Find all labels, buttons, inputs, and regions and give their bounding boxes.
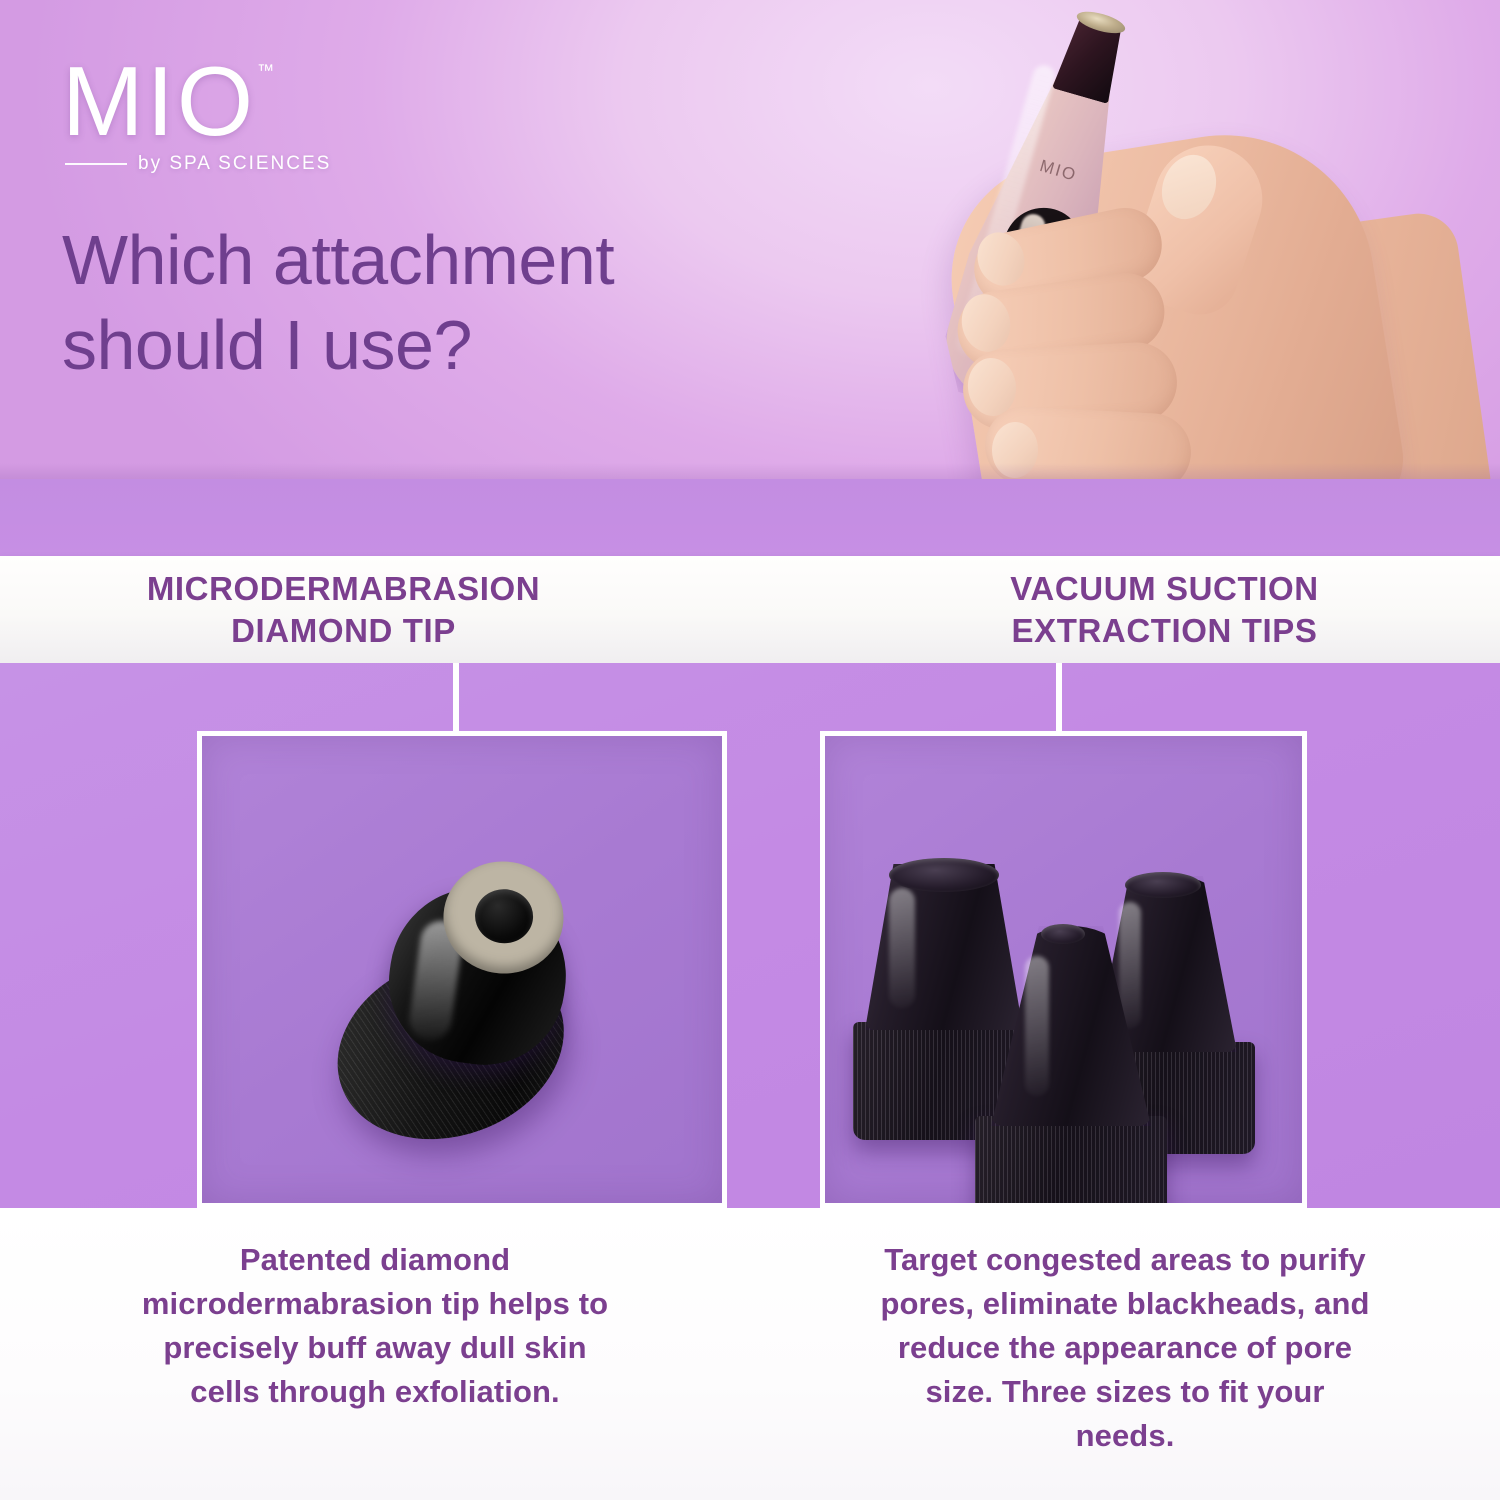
column-header-vacuum-suction: VACUUM SUCTION EXTRACTION TIPS: [679, 556, 1500, 663]
tagline-rule-icon: [65, 163, 127, 165]
product-photo-area: [0, 663, 1500, 1208]
product-photo-suction-tips: [820, 731, 1307, 1208]
product-photo-diamond-tip: [197, 731, 727, 1208]
suction-cup-opening: [889, 858, 999, 892]
suction-cup-base: [975, 1116, 1167, 1208]
caption-text: Patented diamond microdermabrasion tip h…: [140, 1238, 610, 1414]
column-header-line-2: DIAMOND TIP: [231, 610, 456, 652]
connector-line-right: [1056, 663, 1062, 733]
logo-wordmark-text: MIO: [62, 46, 256, 156]
brand-tagline-text: by SPA SCIENCES: [138, 153, 331, 175]
suction-cup-opening: [1041, 924, 1085, 944]
brand-tagline: by SPA SCIENCES: [65, 153, 392, 175]
caption-row: Patented diamond microdermabrasion tip h…: [0, 1208, 1500, 1500]
suction-cup-dome: [991, 926, 1151, 1126]
hand-holding-device-image: MIO SPEED: [845, 0, 1485, 479]
caption-microdermabrasion: Patented diamond microdermabrasion tip h…: [0, 1208, 750, 1500]
column-header-line-1: MICRODERMABRASION: [147, 568, 540, 610]
divider-band: [0, 479, 1500, 556]
page-title: Which attachment should I use?: [62, 218, 782, 389]
hero-banner: MIO ™ by SPA SCIENCES Which attachment s…: [0, 0, 1500, 479]
diamond-tip-illustration: [286, 832, 653, 1170]
caption-text: Target congested areas to purify pores, …: [875, 1238, 1375, 1458]
suction-cup-gloss: [1025, 956, 1049, 1096]
brand-logo: MIO ™ by SPA SCIENCES: [62, 55, 392, 175]
column-header-line-1: VACUUM SUCTION: [1010, 568, 1318, 610]
suction-cup-small: [975, 926, 1167, 1208]
page-title-line-1: Which attachment: [62, 218, 782, 303]
fingernail-4: [991, 421, 1039, 479]
trademark-icon: ™: [257, 63, 274, 79]
column-header-line-2: EXTRACTION TIPS: [1011, 610, 1317, 652]
connector-line-left: [453, 663, 459, 733]
suction-cup-gloss: [889, 888, 915, 1008]
infographic-page: MIO ™ by SPA SCIENCES Which attachment s…: [0, 0, 1500, 1500]
page-title-line-2: should I use?: [62, 303, 782, 388]
column-headers: MICRODERMABRASION DIAMOND TIP VACUUM SUC…: [0, 556, 1500, 663]
logo-wordmark: MIO ™: [62, 55, 256, 148]
suction-cup-opening: [1125, 872, 1201, 898]
caption-vacuum-suction: Target congested areas to purify pores, …: [750, 1208, 1500, 1500]
column-header-microdermabrasion: MICRODERMABRASION DIAMOND TIP: [0, 556, 679, 663]
